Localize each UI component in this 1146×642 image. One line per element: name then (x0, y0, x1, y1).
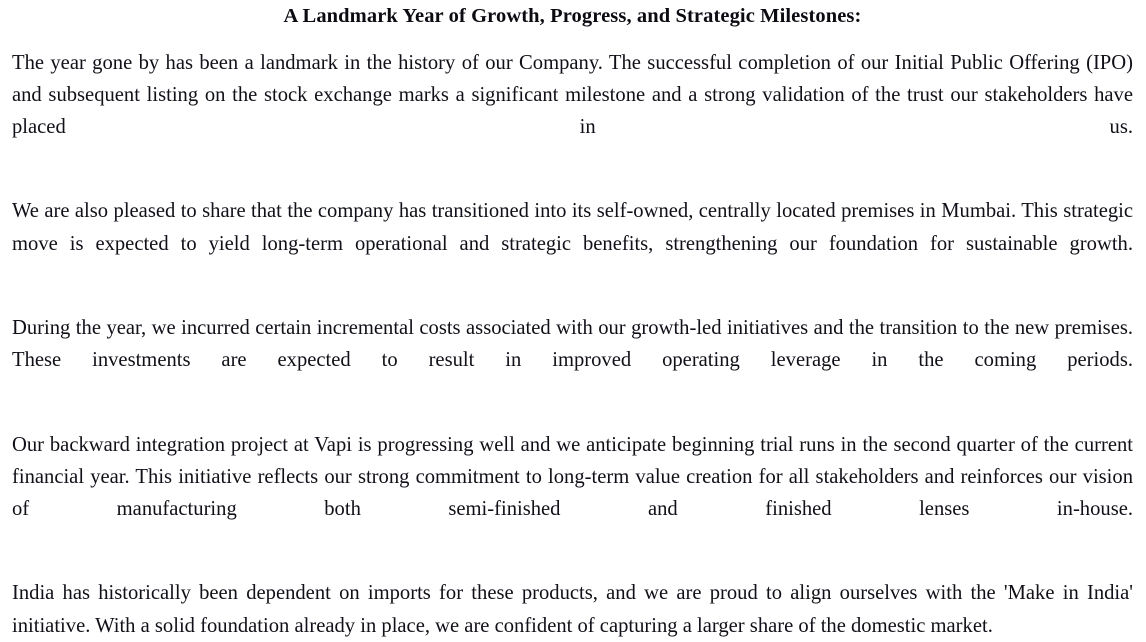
paragraph-vapi-backward-integration: Our backward integration project at Vapi… (12, 429, 1133, 558)
document-page: A Landmark Year of Growth, Progress, and… (0, 0, 1146, 521)
paragraph-ipo-listing: The year gone by has been a landmark in … (12, 47, 1133, 176)
paragraph-mumbai-premises: We are also pleased to share that the co… (12, 195, 1133, 292)
page-title: A Landmark Year of Growth, Progress, and… (12, 0, 1133, 27)
paragraph-make-in-india: India has historically been dependent on… (12, 577, 1133, 641)
paragraph-incremental-costs: During the year, we incurred certain inc… (12, 312, 1133, 409)
document-body: The year gone by has been a landmark in … (12, 47, 1133, 642)
